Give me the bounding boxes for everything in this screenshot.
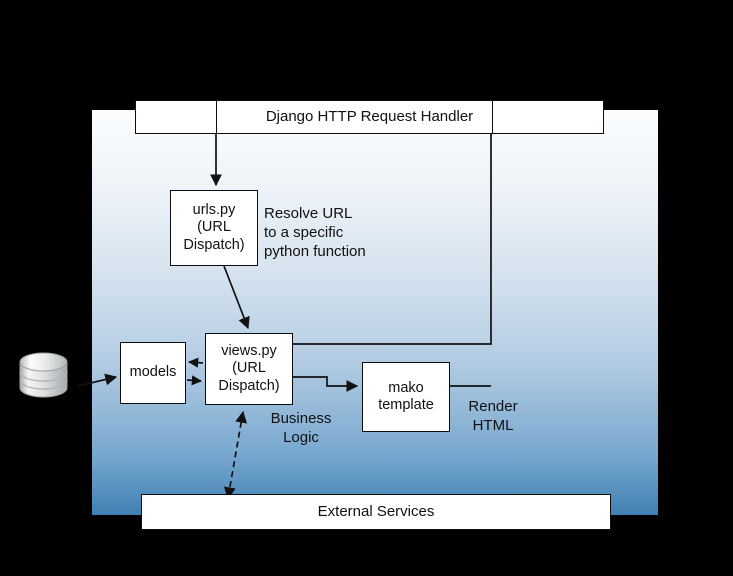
- node-views-py[interactable]: views.py (URL Dispatch): [205, 333, 293, 405]
- node-label-external-services: External Services: [318, 503, 435, 521]
- node-label-urls-line3: Dispatch): [183, 237, 244, 254]
- node-label-views-line2: (URL: [232, 360, 266, 377]
- node-label-views-line1: views.py: [221, 343, 277, 360]
- handler-divider-left: [216, 101, 217, 133]
- node-label-mako-line2: template: [378, 397, 434, 414]
- database-icon: [20, 353, 67, 397]
- node-mako-template[interactable]: mako template: [362, 362, 450, 432]
- diagram-canvas: Django HTTP Request Handler urls.py (URL…: [0, 0, 733, 576]
- gradient-panel: [92, 110, 658, 515]
- node-models[interactable]: models: [120, 342, 186, 404]
- handler-divider-right: [492, 101, 493, 133]
- node-label-models: models: [130, 364, 177, 381]
- node-external-services[interactable]: External Services: [141, 494, 611, 530]
- node-label-views-line3: Dispatch): [218, 378, 279, 395]
- caption-business-logic: Business Logic: [262, 410, 340, 448]
- caption-render-html: Render HTML: [459, 398, 527, 436]
- node-label-mako-line1: mako: [388, 380, 423, 397]
- node-label-django-handler: Django HTTP Request Handler: [266, 108, 473, 126]
- node-urls-py[interactable]: urls.py (URL Dispatch): [170, 190, 258, 266]
- node-label-urls-line2: (URL: [197, 219, 231, 236]
- caption-resolve-url: Resolve URL to a specific python functio…: [264, 205, 384, 262]
- node-label-urls-line1: urls.py: [193, 202, 236, 219]
- node-django-http-request-handler[interactable]: Django HTTP Request Handler: [135, 100, 604, 134]
